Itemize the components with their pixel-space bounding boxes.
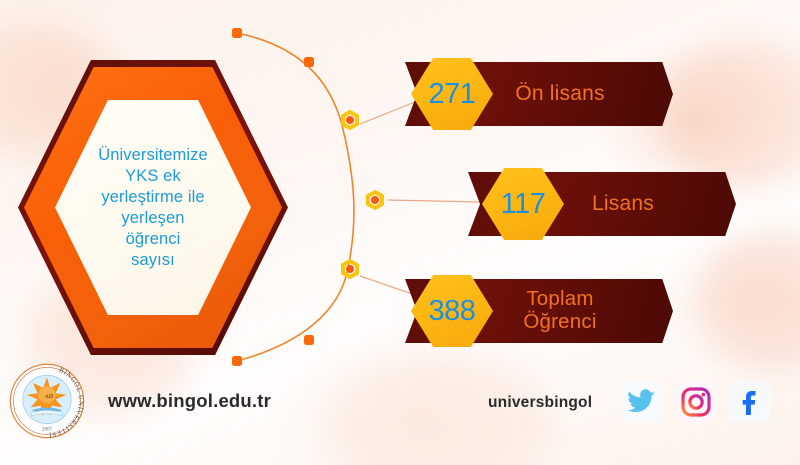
connector-node-hexagon-1 [343, 112, 357, 128]
background-blob [330, 360, 550, 465]
instagram-icon[interactable] [676, 382, 716, 422]
headline-text: Üniversitemize YKS ek yerleştirme ile ye… [55, 102, 251, 313]
connector-node-hexagon-2 [368, 192, 382, 208]
headline-line-2: YKS ek [125, 166, 181, 186]
stat-value: 117 [501, 188, 546, 221]
background-blob [700, 230, 800, 370]
headline-line-3: yerleştirme ile [101, 187, 204, 207]
connector-dot-bottom-mid [304, 335, 314, 345]
stat-row-lisans: Lisans 117 [468, 168, 736, 240]
connector-branch-2 [388, 200, 480, 202]
headline-line-4: yerleşen [121, 208, 184, 228]
headline-hexagon: Üniversitemize YKS ek yerleştirme ile ye… [18, 60, 288, 355]
facebook-icon[interactable] [730, 382, 770, 422]
connector-node-hexagon-3 [343, 261, 357, 277]
headline-line-1: Üniversitemize [98, 145, 208, 165]
stat-row-toplam-ogrenci: Toplam Öğrenci 388 [405, 275, 673, 347]
connector-dot-top-mid [304, 57, 314, 67]
headline-line-5: öğrenci [126, 229, 181, 249]
website-url[interactable]: www.bingol.edu.tr [108, 390, 271, 412]
connector-dot-top-end [232, 28, 242, 38]
stat-value: 271 [429, 78, 476, 111]
stat-value: 388 [429, 295, 476, 328]
social-handle: universbingol [488, 394, 592, 412]
connector-dot-bottom-end [232, 356, 242, 366]
headline-line-6: sayısı [131, 250, 175, 270]
university-logo: ﷲ BİNGÖL ÜNİVERSİTESİ 2007 [8, 362, 86, 440]
logo-year: 2007 [42, 427, 53, 433]
infographic-canvas: Üniversitemize YKS ek yerleştirme ile ye… [0, 0, 800, 465]
stat-row-on-lisans: Ön lisans 271 [405, 58, 673, 130]
twitter-icon[interactable] [622, 382, 662, 422]
